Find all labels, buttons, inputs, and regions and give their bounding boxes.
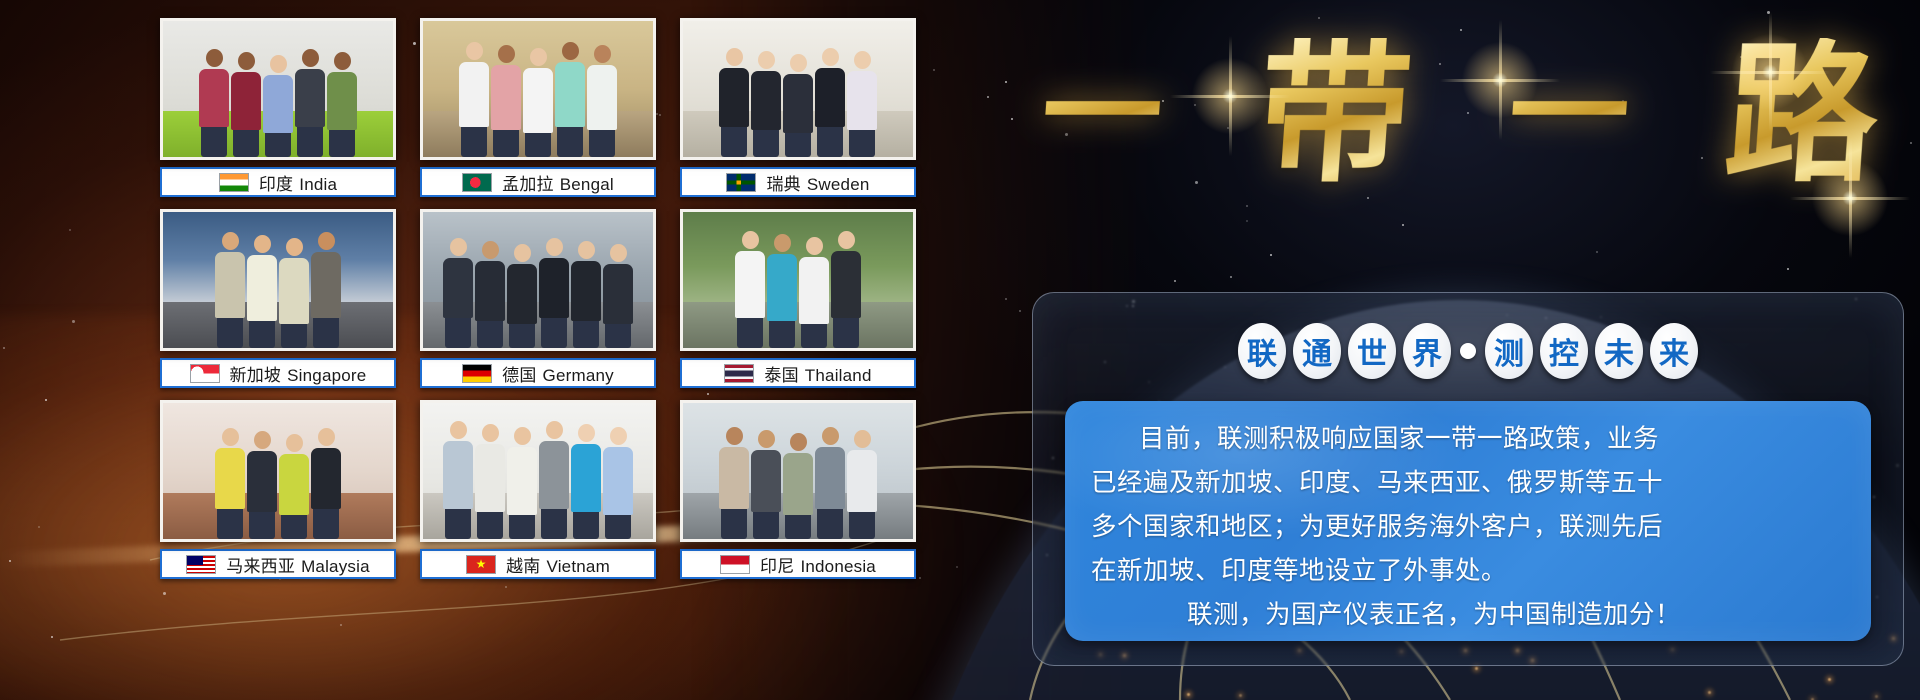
slogan-char-badge: 世 — [1348, 323, 1396, 379]
country-label-text: 孟加拉Bengal — [502, 170, 614, 195]
country-label: 泰国Thailand — [680, 358, 916, 388]
flag-germany-icon — [462, 364, 492, 383]
photo-people — [423, 51, 653, 157]
flag-india-icon — [219, 173, 249, 192]
calligraphy-char-2: 带 — [1254, 38, 1417, 190]
photo-people — [163, 242, 393, 348]
person-figure — [523, 48, 553, 157]
person-figure — [295, 49, 325, 157]
country-label: 新加坡Singapore — [160, 358, 396, 388]
slogan-char-badge: 未 — [1595, 323, 1643, 379]
flag-bangladesh-icon — [462, 173, 492, 192]
flag-malaysia-icon — [186, 555, 216, 574]
info-panel: 联通世界测控未来 目前，联测积极响应国家一带一路政策，业务 已经遍及新加坡、印度… — [1032, 292, 1904, 666]
person-figure — [311, 428, 341, 539]
slogan-separator-dot — [1460, 343, 1476, 359]
headline-calligraphy: 一 带 一 路 — [1020, 8, 1900, 220]
country-name-cn: 孟加拉 — [502, 175, 554, 194]
person-figure — [491, 45, 521, 157]
star-speck — [505, 586, 507, 588]
star-speck — [933, 69, 935, 71]
country-card[interactable]: 马来西亚Malaysia — [160, 400, 396, 579]
photo-people — [683, 433, 913, 539]
photo-people — [683, 242, 913, 348]
slogan-char-badge: 通 — [1293, 323, 1341, 379]
country-photo — [160, 18, 396, 160]
country-card[interactable]: 瑞典Sweden — [680, 18, 916, 197]
description-line: 已经遍及新加坡、印度、马来西亚、俄罗斯等五十 — [1091, 461, 1845, 505]
country-name-cn: 新加坡 — [230, 366, 282, 385]
star-speck — [1596, 251, 1598, 253]
star-speck — [1246, 220, 1248, 222]
country-card[interactable]: 泰国Thailand — [680, 209, 916, 388]
person-figure — [783, 54, 813, 157]
country-name-cn: 马来西亚 — [226, 557, 295, 576]
country-name-en: Vietnam — [546, 557, 609, 576]
person-figure — [279, 238, 309, 348]
flag-canton — [187, 556, 202, 566]
photo-people — [423, 242, 653, 348]
country-photo-grid: 印度India孟加拉Bengal瑞典Sweden新加坡Singapore德国Ge… — [160, 18, 916, 579]
person-figure — [215, 232, 245, 348]
country-label-text: 瑞典Sweden — [766, 170, 869, 195]
star-speck — [51, 636, 53, 638]
flag-singapore-icon — [190, 364, 220, 383]
star-icon: ★ — [476, 558, 487, 570]
country-label: 孟加拉Bengal — [420, 167, 656, 197]
person-figure — [751, 430, 781, 539]
slogan-char-badge: 界 — [1403, 323, 1451, 379]
country-name-cn: 德国 — [502, 366, 536, 385]
country-label-text: 越南Vietnam — [506, 552, 610, 577]
calligraphy-char-4: 路 — [1721, 38, 1884, 190]
person-figure — [443, 421, 473, 539]
country-photo — [680, 400, 916, 542]
person-figure — [831, 231, 861, 348]
country-name-en: Malaysia — [301, 557, 370, 576]
country-name-en: Indonesia — [800, 557, 876, 576]
slogan-char-badge: 联 — [1238, 323, 1286, 379]
star-speck — [919, 577, 921, 579]
star-speck — [1910, 142, 1912, 144]
person-figure — [767, 234, 797, 348]
country-card[interactable]: 印尼Indonesia — [680, 400, 916, 579]
country-photo — [420, 209, 656, 351]
country-label-text: 印度India — [259, 170, 337, 195]
person-figure — [799, 237, 829, 348]
country-card[interactable]: 新加坡Singapore — [160, 209, 396, 388]
person-figure — [475, 241, 505, 348]
flag-thailand-icon — [724, 364, 754, 383]
star-speck — [1005, 81, 1007, 83]
country-name-cn: 泰国 — [764, 366, 798, 385]
person-figure — [735, 231, 765, 348]
person-figure — [215, 428, 245, 539]
slogan-badges: 联通世界测控未来 — [1033, 323, 1903, 379]
person-figure — [571, 241, 601, 348]
person-figure — [459, 42, 489, 157]
person-figure — [571, 424, 601, 539]
star-speck — [987, 96, 989, 98]
description-line: 多个国家和地区；为更好服务海外客户，联测先后 — [1091, 505, 1845, 549]
calligraphy-char-3: 一 — [1504, 54, 1632, 174]
star-speck — [9, 560, 11, 562]
country-label: 印尼Indonesia — [680, 549, 916, 579]
person-figure — [847, 51, 877, 157]
person-figure — [507, 244, 537, 348]
star-speck — [3, 347, 5, 349]
star-speck — [1011, 118, 1013, 120]
flag-sweden-icon — [726, 173, 756, 192]
photo-people — [423, 433, 653, 539]
country-photo — [420, 18, 656, 160]
person-figure — [751, 51, 781, 157]
country-photo — [680, 209, 916, 351]
person-figure — [847, 430, 877, 539]
person-figure — [555, 42, 585, 157]
person-figure — [507, 427, 537, 539]
person-figure — [815, 48, 845, 157]
person-figure — [231, 52, 261, 157]
city-light — [1475, 667, 1478, 670]
slogan-char-badge: 测 — [1485, 323, 1533, 379]
city-light — [1828, 678, 1831, 681]
country-name-en: Sweden — [807, 175, 870, 194]
star-speck — [72, 320, 75, 323]
person-figure — [443, 238, 473, 348]
person-figure — [327, 52, 357, 157]
photo-people — [163, 51, 393, 157]
person-figure — [263, 55, 293, 157]
star-speck — [956, 566, 958, 568]
description-line: 联测，为国产仪表正名，为中国制造加分！ — [1091, 593, 1845, 637]
country-photo — [160, 400, 396, 542]
star-speck — [69, 229, 71, 231]
star-speck — [1005, 298, 1007, 300]
country-label-text: 印尼Indonesia — [760, 552, 876, 577]
person-figure — [719, 48, 749, 157]
banner-stage: 一 带 一 路 印度India孟加拉Bengal瑞典Sweden新加坡Singa… — [0, 0, 1920, 700]
person-figure — [539, 421, 569, 539]
star-speck — [163, 592, 166, 595]
person-figure — [719, 427, 749, 539]
slogan-char-badge: 来 — [1650, 323, 1698, 379]
country-card[interactable]: 印度India — [160, 18, 396, 197]
photo-people — [683, 51, 913, 157]
country-label: ★越南Vietnam — [420, 549, 656, 579]
country-name-en: Thailand — [805, 366, 872, 385]
flag-indonesia-icon — [720, 555, 750, 574]
country-label: 印度India — [160, 167, 396, 197]
country-photo — [680, 18, 916, 160]
city-light — [1708, 691, 1711, 694]
description-line: 目前，联测积极响应国家一带一路政策，业务 — [1091, 417, 1845, 461]
person-figure — [815, 427, 845, 539]
city-light — [1239, 694, 1242, 697]
country-card[interactable]: ★越南Vietnam — [420, 400, 656, 579]
country-photo — [420, 400, 656, 542]
star-speck — [45, 399, 47, 401]
person-figure — [475, 424, 505, 539]
country-card[interactable]: 德国Germany — [420, 209, 656, 388]
star-speck — [340, 624, 342, 626]
photo-people — [163, 433, 393, 539]
country-name-en: India — [299, 175, 337, 194]
country-label-text: 德国Germany — [502, 361, 614, 386]
slogan-char-badge: 控 — [1540, 323, 1588, 379]
star-speck — [1402, 224, 1404, 226]
person-figure — [539, 238, 569, 348]
country-name-cn: 印尼 — [760, 557, 794, 576]
country-card[interactable]: 孟加拉Bengal — [420, 18, 656, 197]
country-name-en: Bengal — [560, 175, 614, 194]
person-figure — [247, 431, 277, 539]
person-figure — [247, 235, 277, 348]
star-speck — [38, 526, 40, 528]
star-speck — [1019, 310, 1021, 312]
country-label-text: 马来西亚Malaysia — [226, 552, 370, 577]
country-name-en: Singapore — [287, 366, 366, 385]
person-figure — [279, 434, 309, 539]
person-figure — [603, 244, 633, 348]
person-figure — [603, 427, 633, 539]
flag-vietnam-icon: ★ — [466, 555, 496, 574]
country-name-cn: 越南 — [506, 557, 540, 576]
star-speck — [1174, 280, 1176, 282]
description-box: 目前，联测积极响应国家一带一路政策，业务 已经遍及新加坡、印度、马来西亚、俄罗斯… — [1065, 401, 1871, 641]
country-label: 瑞典Sweden — [680, 167, 916, 197]
person-figure — [311, 232, 341, 348]
country-name-cn: 印度 — [259, 175, 293, 194]
city-light — [1187, 693, 1190, 696]
country-name-cn: 瑞典 — [766, 175, 800, 194]
city-light — [1875, 695, 1878, 698]
person-figure — [199, 49, 229, 157]
person-figure — [587, 45, 617, 157]
country-label-text: 新加坡Singapore — [230, 361, 367, 386]
country-label: 德国Germany — [420, 358, 656, 388]
description-line: 在新加坡、印度等地设立了外事处。 — [1091, 549, 1845, 593]
star-speck — [1270, 254, 1272, 256]
person-figure — [783, 433, 813, 539]
star-speck — [1787, 268, 1789, 270]
calligraphy-char-1: 一 — [1038, 54, 1166, 174]
country-label: 马来西亚Malaysia — [160, 549, 396, 579]
country-name-en: Germany — [543, 366, 614, 385]
star-speck — [1230, 276, 1232, 278]
country-photo — [160, 209, 396, 351]
country-label-text: 泰国Thailand — [764, 361, 871, 386]
